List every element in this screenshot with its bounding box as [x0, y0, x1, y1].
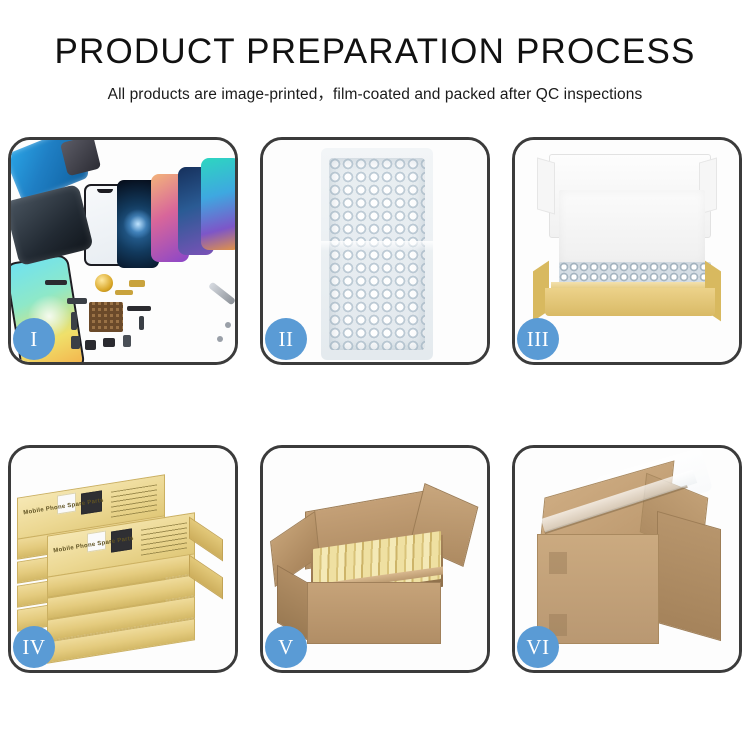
speaker-module-icon: [95, 274, 113, 292]
part-chip-icon: [139, 316, 144, 330]
step-panel-2: II: [260, 137, 490, 365]
carton-front-panel-icon: [307, 582, 441, 644]
step-badge-2: II: [265, 318, 307, 360]
bubble-wrap-illustration: [321, 148, 433, 360]
screw-icon: [225, 322, 231, 328]
step-panel-4: Mobile Phone Spare Parts Mobile Phone Sp…: [8, 445, 238, 673]
page-title: PRODUCT PREPARATION PROCESS: [0, 34, 750, 71]
header: PRODUCT PREPARATION PROCESS All products…: [0, 0, 750, 104]
box-lid-left-flap-icon: [537, 157, 555, 214]
carton-side-panel-icon: [657, 511, 721, 641]
bubble-texture: [329, 158, 425, 350]
carton-handle-tab-icon: [549, 552, 567, 574]
plastic-sheen: [321, 241, 433, 251]
step-panel-3: III: [512, 137, 742, 365]
part-chip-icon: [71, 336, 80, 349]
tweezers-icon: [208, 282, 235, 306]
flex-cable-icon: [115, 290, 133, 295]
part-chip-icon: [127, 306, 151, 311]
page-subtitle: All products are image-printed，film-coat…: [0, 82, 750, 104]
step-badge-1: I: [13, 318, 55, 360]
part-chip-icon: [45, 280, 67, 285]
box-front-panel-icon: [545, 288, 715, 316]
white-foam-sheet-icon: [559, 190, 705, 266]
part-chip-icon: [123, 335, 131, 347]
step-panel-6: VI: [512, 445, 742, 673]
step-badge-3: III: [517, 318, 559, 360]
step-panel-1: I: [8, 137, 238, 365]
flex-cable-icon: [129, 280, 145, 287]
step-badge-4: IV: [13, 626, 55, 668]
step-badge-6: VI: [517, 626, 559, 668]
product-preparation-infographic: PRODUCT PREPARATION PROCESS All products…: [0, 0, 750, 750]
step-badge-5: V: [265, 626, 307, 668]
part-chip-icon: [71, 312, 77, 330]
phone-gradient-screen-icon: [201, 158, 235, 250]
phone-back-housing-icon: [11, 184, 94, 266]
screw-icon: [217, 336, 223, 342]
step-panel-5: V: [260, 445, 490, 673]
part-chip-icon: [67, 298, 87, 304]
part-chip-icon: [85, 340, 96, 350]
part-chip-icon: [103, 338, 115, 347]
connector-grid-icon: [89, 302, 123, 332]
process-steps-grid: I II: [8, 137, 742, 677]
